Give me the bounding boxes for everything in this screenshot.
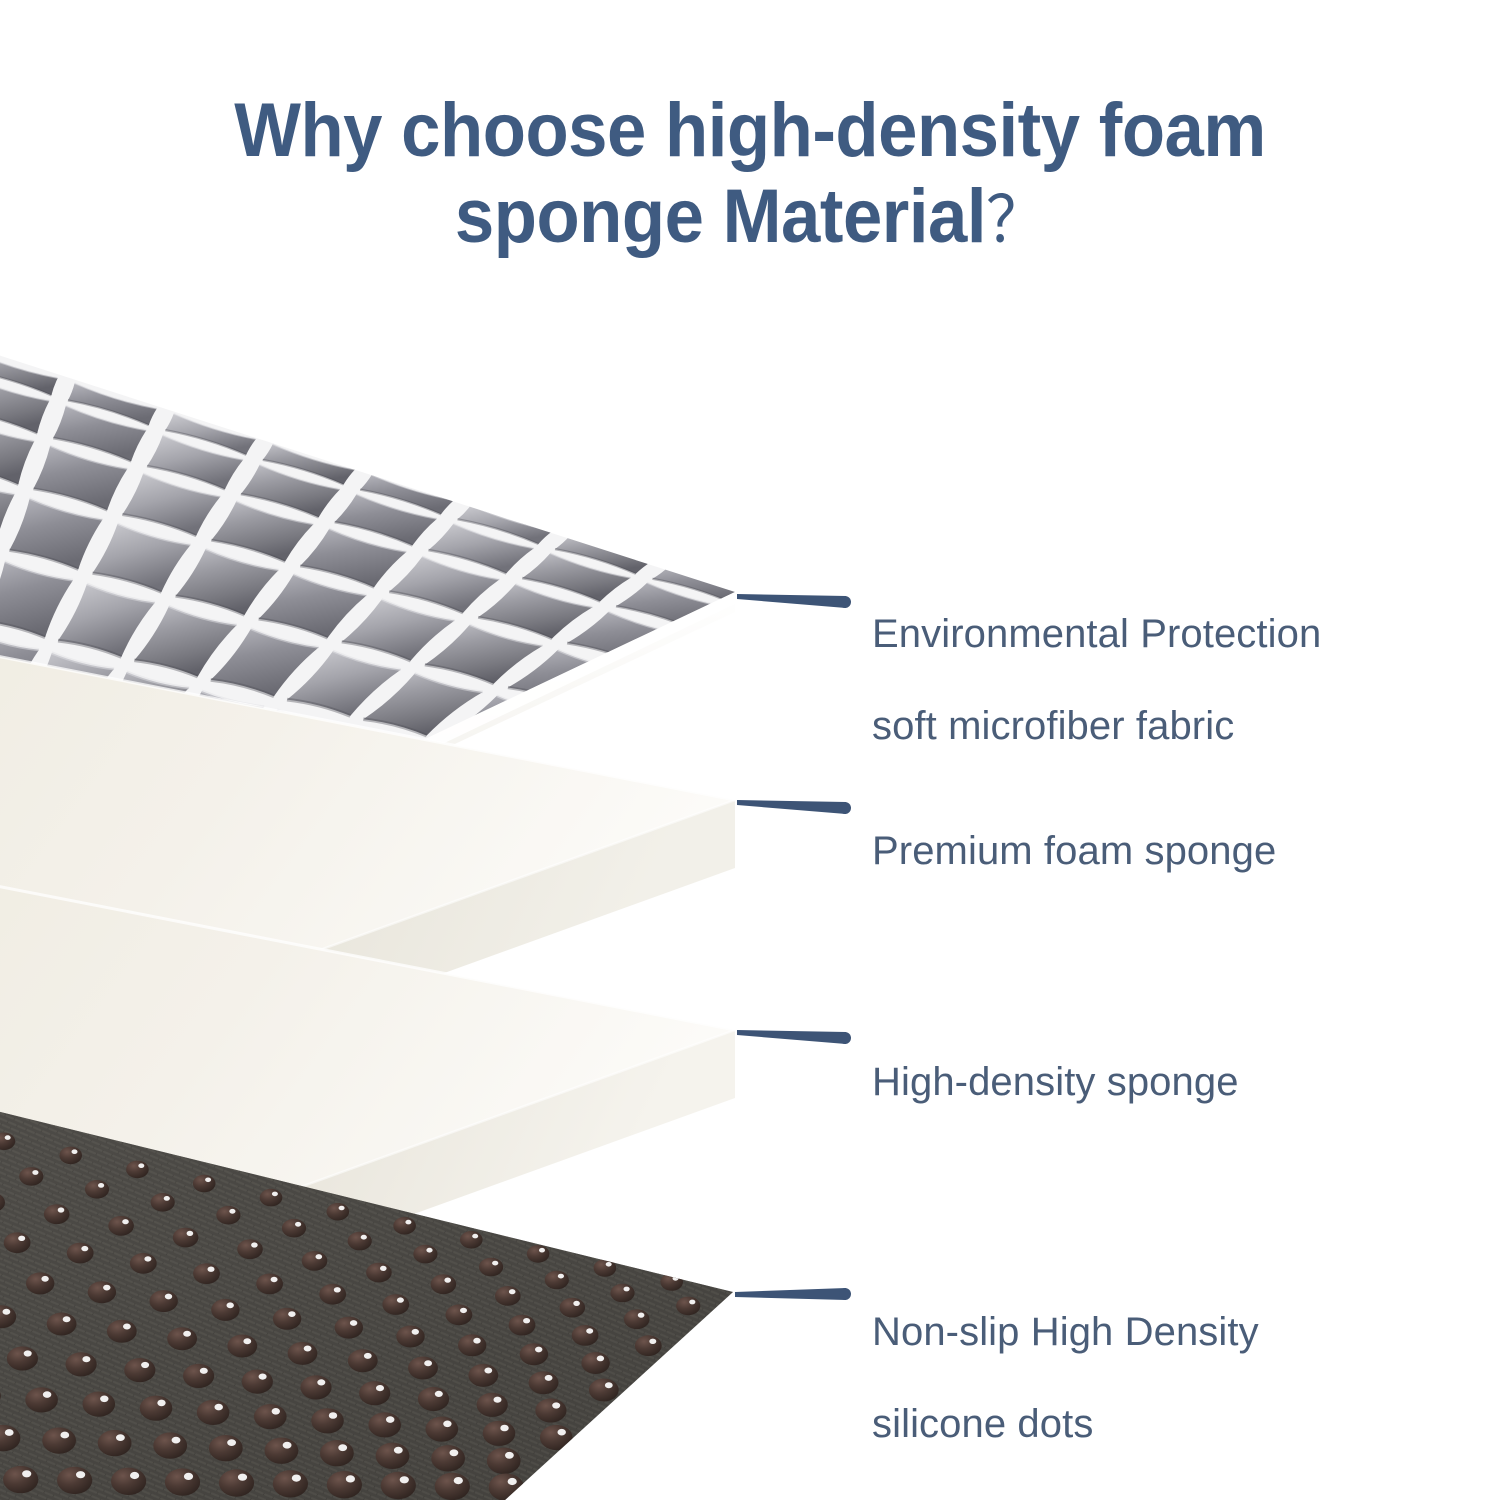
silicone-dot (282, 1219, 306, 1238)
callout-label-premium-foam: Premium foam sponge (872, 782, 1276, 920)
silicone-dot-highlight (32, 1170, 38, 1175)
leader-line-hd-foam (737, 1030, 846, 1044)
silicone-dot-highlight (116, 1434, 125, 1441)
silicone-dot-highlight (238, 1474, 247, 1481)
silicone-dot-highlight (251, 1242, 258, 1247)
silicone-dot (594, 1259, 617, 1277)
silicone-dot-highlight (172, 1437, 181, 1444)
silicone-dot-highlight (43, 1391, 51, 1398)
silicone-dot (468, 1364, 498, 1387)
silicone-dot-highlight (494, 1397, 502, 1403)
silicone-dot (489, 1474, 524, 1500)
silicone-dot (150, 1290, 178, 1312)
silicone-dot-highlight (144, 1256, 151, 1261)
silicone-dot-highlight (500, 1425, 508, 1432)
silicone-dot (7, 1346, 38, 1370)
silicone-dot (98, 1430, 132, 1456)
silicone-dot (535, 1398, 566, 1422)
silicone-dot-highlight (272, 1408, 280, 1415)
silicone-dot (348, 1349, 378, 1372)
silicone-dot (4, 1232, 31, 1253)
silicone-dot-highlight (472, 1234, 478, 1239)
silicone-dot-highlight (98, 1183, 104, 1188)
silicone-dot (393, 1217, 416, 1235)
silicone-dot-highlight (272, 1192, 278, 1197)
silicone-dot-highlight (412, 1329, 419, 1335)
silicone-dot (408, 1357, 438, 1380)
silicone-dot (520, 1343, 548, 1365)
silicone-dot-highlight (339, 1206, 345, 1211)
silicone-dot-highlight (426, 1248, 432, 1253)
leader-dot-premium-foam (839, 802, 851, 814)
silicone-dot-highlight (400, 1476, 409, 1483)
silicone-dot-highlight (338, 1444, 347, 1451)
silicone-dot-highlight (288, 1311, 295, 1317)
silicone-dot-highlight (508, 1478, 517, 1485)
silicone-dot (635, 1335, 662, 1356)
leader-dot-silicone (839, 1288, 851, 1300)
silicone-dot (219, 1469, 254, 1496)
silicone-dot-highlight (123, 1324, 131, 1330)
silicone-dot (237, 1239, 263, 1259)
silicone-dot-highlight (317, 1379, 325, 1385)
silicone-dot-highlight (405, 1220, 411, 1225)
silicone-dot (88, 1281, 116, 1303)
silicone-dot (108, 1216, 134, 1236)
silicone-dot (273, 1308, 301, 1330)
silicone-dot-highlight (165, 1294, 172, 1300)
silicone-dot-highlight (18, 1236, 25, 1241)
silicone-dot-highlight (539, 1248, 545, 1253)
silicone-dot-highlight (454, 1477, 463, 1484)
silicone-dot (242, 1370, 273, 1394)
silicone-dot-highlight (435, 1391, 443, 1397)
silicone-dot-highlight (208, 1267, 215, 1272)
silicone-dot-highlight (157, 1400, 165, 1407)
title-line-1: Why choose high-density foam (53, 88, 1448, 174)
silicone-dot-highlight (63, 1316, 71, 1322)
silicone-dot (660, 1273, 683, 1291)
silicone-dot-highlight (103, 1285, 110, 1291)
silicone-dot (483, 1421, 516, 1446)
silicone-dot-highlight (334, 1287, 341, 1292)
silicone-dot (435, 1473, 470, 1500)
silicone-dot-highlight (200, 1368, 208, 1374)
silicone-dot-highlight (558, 1274, 564, 1279)
callout-fabric-line1: Environmental Protection (872, 611, 1321, 657)
silicone-dot (676, 1297, 700, 1316)
silicone-dot (348, 1232, 372, 1251)
silicone-dot (67, 1243, 94, 1264)
silicone-dot (359, 1381, 390, 1405)
silicone-dot-highlight (184, 1473, 193, 1480)
silicone-dot-highlight (535, 1347, 542, 1353)
silicone-dot (327, 1471, 362, 1498)
silicone-dot-highlight (81, 1246, 88, 1251)
callout-silicone-line2: silicone dots (872, 1401, 1259, 1447)
silicone-dot (193, 1263, 220, 1284)
silicone-dot-highlight (523, 1318, 530, 1323)
silicone-dot-highlight (346, 1475, 355, 1482)
silicone-dot (19, 1167, 43, 1186)
silicone-dot-highlight (164, 1196, 170, 1201)
silicone-dot-highlight (130, 1472, 139, 1479)
silicone-dot-highlight (606, 1262, 612, 1267)
silicone-dot (529, 1371, 559, 1394)
silicone-dot-highlight (350, 1320, 357, 1326)
silicone-dot-highlight (227, 1439, 236, 1446)
silicone-dot (319, 1284, 346, 1305)
silicone-dot-highlight (82, 1356, 90, 1362)
silicone-dot (130, 1253, 157, 1274)
leader-dot-fabric (839, 596, 851, 608)
leader-dot-hd-foam (839, 1032, 851, 1044)
silicone-dot (376, 1443, 410, 1469)
silicone-dot (153, 1432, 187, 1458)
silicone-dot (624, 1309, 650, 1329)
silicone-dot-highlight (271, 1277, 278, 1282)
silicone-dot-highlight (58, 1207, 65, 1212)
silicone-dot (589, 1379, 619, 1402)
silicone-dot (487, 1448, 521, 1474)
silicone-dot-highlight (187, 1231, 194, 1236)
callout-label-fabric: Environmental Protection soft microfiber… (872, 565, 1321, 795)
silicone-dot-highlight (304, 1346, 312, 1352)
silicone-dot (42, 1427, 76, 1453)
silicone-dot-highlight (397, 1297, 404, 1302)
silicone-dot-highlight (364, 1353, 372, 1359)
silicone-dot-highlight (649, 1339, 656, 1344)
silicone-dot (368, 1412, 401, 1437)
silicone-dot-highlight (292, 1475, 301, 1482)
silicone-dot (151, 1193, 175, 1212)
silicone-dot (44, 1204, 70, 1224)
silicone-dot-highlight (72, 1149, 78, 1154)
silicone-dot (57, 1467, 92, 1494)
silicone-dot (381, 1472, 416, 1499)
silicone-dot (366, 1263, 392, 1283)
silicone-dot-highlight (505, 1452, 514, 1459)
silicone-dot-highlight (460, 1308, 467, 1313)
silicone-dot-highlight (605, 1382, 613, 1388)
title-question-mark: ？ (986, 184, 1045, 256)
silicone-dot (3, 1466, 38, 1493)
silicone-dot-highlight (424, 1360, 432, 1366)
silicone-dot (396, 1326, 424, 1348)
silicone-dot (446, 1304, 473, 1325)
silicone-dot-highlight (205, 1178, 211, 1183)
silicone-dot (273, 1470, 308, 1497)
callout-premium-line1: Premium foam sponge (872, 828, 1276, 874)
silicone-dot-highlight (60, 1432, 69, 1439)
silicone-dot-highlight (586, 1328, 593, 1333)
silicone-dot (265, 1438, 299, 1464)
leader-line-premium-foam (737, 800, 846, 814)
silicone-dot-highlight (76, 1471, 85, 1478)
silicone-dot-highlight (386, 1416, 394, 1423)
silicone-dot-highlight (316, 1254, 323, 1259)
silicone-dot-highlight (558, 1429, 566, 1436)
infographic-canvas: Why choose high-density foam sponge Mate… (0, 0, 1500, 1500)
silicone-dot-highlight (492, 1261, 498, 1266)
silicone-dot (335, 1317, 363, 1339)
silicone-dot (66, 1352, 97, 1376)
silicone-dot (572, 1325, 599, 1346)
silicone-dot (495, 1286, 521, 1306)
silicone-dot (227, 1335, 257, 1358)
silicone-dot (197, 1400, 230, 1425)
silicone-dot (540, 1425, 573, 1450)
silicone-dot (477, 1393, 508, 1417)
callout-label-silicone: Non-slip High Density silicone dots (872, 1263, 1259, 1493)
callout-leader-lines (735, 594, 851, 1300)
silicone-dot-highlight (689, 1300, 695, 1305)
silicone-dot-highlight (3, 1309, 11, 1315)
silicone-dot (209, 1435, 243, 1461)
silicone-dot (25, 1387, 58, 1412)
callout-label-hd-foam: High-density sponge (872, 1013, 1239, 1151)
silicone-dot-highlight (141, 1362, 149, 1368)
silicone-dot (47, 1313, 77, 1336)
silicone-dot-highlight (227, 1302, 234, 1308)
silicone-dot-highlight (624, 1287, 630, 1292)
silicone-dot-highlight (444, 1278, 451, 1283)
silicone-dot-highlight (138, 1163, 144, 1168)
silicone-dot (610, 1284, 634, 1303)
title-line-2: sponge Material？ (53, 174, 1448, 263)
silicone-dot (431, 1274, 457, 1294)
silicone-dot (320, 1440, 354, 1466)
title-line-2-text: sponge Material (455, 174, 986, 259)
silicone-dot (311, 1408, 344, 1433)
silicone-dot (126, 1161, 149, 1179)
silicone-dot-highlight (673, 1276, 679, 1281)
silicone-dot (327, 1203, 350, 1221)
silicone-dot (183, 1364, 214, 1388)
silicone-dot (59, 1147, 82, 1165)
silicone-dot-highlight (484, 1368, 492, 1374)
silicone-dot (509, 1315, 536, 1336)
silicone-dot-highlight (380, 1266, 387, 1271)
silicone-dot (382, 1294, 409, 1315)
silicone-dot (254, 1404, 287, 1429)
silicone-dot (256, 1274, 283, 1295)
silicone-dot-highlight (443, 1421, 451, 1428)
silicone-dot (527, 1245, 550, 1263)
silicone-dot (167, 1327, 197, 1350)
silicone-dot-highlight (283, 1442, 292, 1449)
silicone-dot-highlight (5, 1429, 14, 1436)
silicone-dot (458, 1334, 486, 1356)
leader-line-fabric (737, 594, 846, 608)
silicone-dot (581, 1352, 609, 1374)
silicone-dot-highlight (295, 1222, 301, 1227)
callout-fabric-line2: soft microfiber fabric (872, 703, 1321, 749)
silicone-dot-highlight (259, 1374, 267, 1380)
silicone-dot (216, 1206, 240, 1225)
silicone-dot-highlight (24, 1350, 32, 1356)
silicone-dot (479, 1258, 503, 1277)
silicone-dot (26, 1272, 54, 1294)
silicone-dot-highlight (552, 1402, 560, 1408)
silicone-dot-highlight (229, 1209, 235, 1214)
silicone-dot (302, 1251, 328, 1271)
silicone-dot-highlight (573, 1301, 580, 1306)
silicone-dot-highlight (329, 1412, 337, 1419)
silicone-dot (193, 1175, 216, 1193)
silicone-dot (140, 1396, 173, 1421)
silicone-dot-highlight (473, 1338, 480, 1344)
silicone-dot (111, 1468, 146, 1495)
silicone-dot-highlight (41, 1276, 48, 1282)
silicone-dot-highlight (243, 1338, 251, 1344)
silicone-dot-highlight (100, 1396, 108, 1403)
callout-silicone-line1: Non-slip High Density (872, 1309, 1259, 1355)
silicone-dot (418, 1387, 449, 1411)
silicone-dot (260, 1189, 283, 1207)
silicone-dot (545, 1271, 569, 1290)
silicone-dot (124, 1358, 155, 1382)
silicone-dot (560, 1298, 586, 1318)
silicone-dot (211, 1299, 239, 1321)
leader-line-silicone (735, 1288, 846, 1300)
silicone-dot-highlight (361, 1235, 367, 1240)
silicone-dot (460, 1231, 483, 1249)
silicone-dot-highlight (215, 1404, 223, 1411)
silicone-dot (173, 1228, 199, 1248)
silicone-dot-highlight (638, 1313, 645, 1318)
silicone-dot-highlight (545, 1375, 553, 1381)
silicone-dot-highlight (183, 1331, 191, 1337)
silicone-dot-highlight (5, 1135, 11, 1140)
silicone-dot-highlight (450, 1449, 459, 1456)
page-title: Why choose high-density foam sponge Mate… (0, 88, 1500, 263)
silicone-dot (165, 1468, 200, 1495)
silicone-dot-highlight (597, 1356, 604, 1362)
silicone-dot (85, 1180, 109, 1199)
silicone-dot (426, 1417, 459, 1442)
silicone-dot (431, 1445, 465, 1471)
callout-hd-line1: High-density sponge (872, 1059, 1239, 1105)
silicone-dot-highlight (122, 1219, 129, 1224)
silicone-dot (413, 1245, 437, 1264)
silicone-dot (288, 1342, 318, 1365)
silicone-dot-highlight (509, 1289, 516, 1294)
silicone-dot-highlight (22, 1470, 31, 1477)
silicone-dot (300, 1375, 331, 1399)
silicone-dot (83, 1392, 116, 1417)
silicone-dot-highlight (376, 1385, 384, 1391)
silicone-dot (107, 1320, 137, 1343)
silicone-dot-highlight (394, 1447, 403, 1454)
